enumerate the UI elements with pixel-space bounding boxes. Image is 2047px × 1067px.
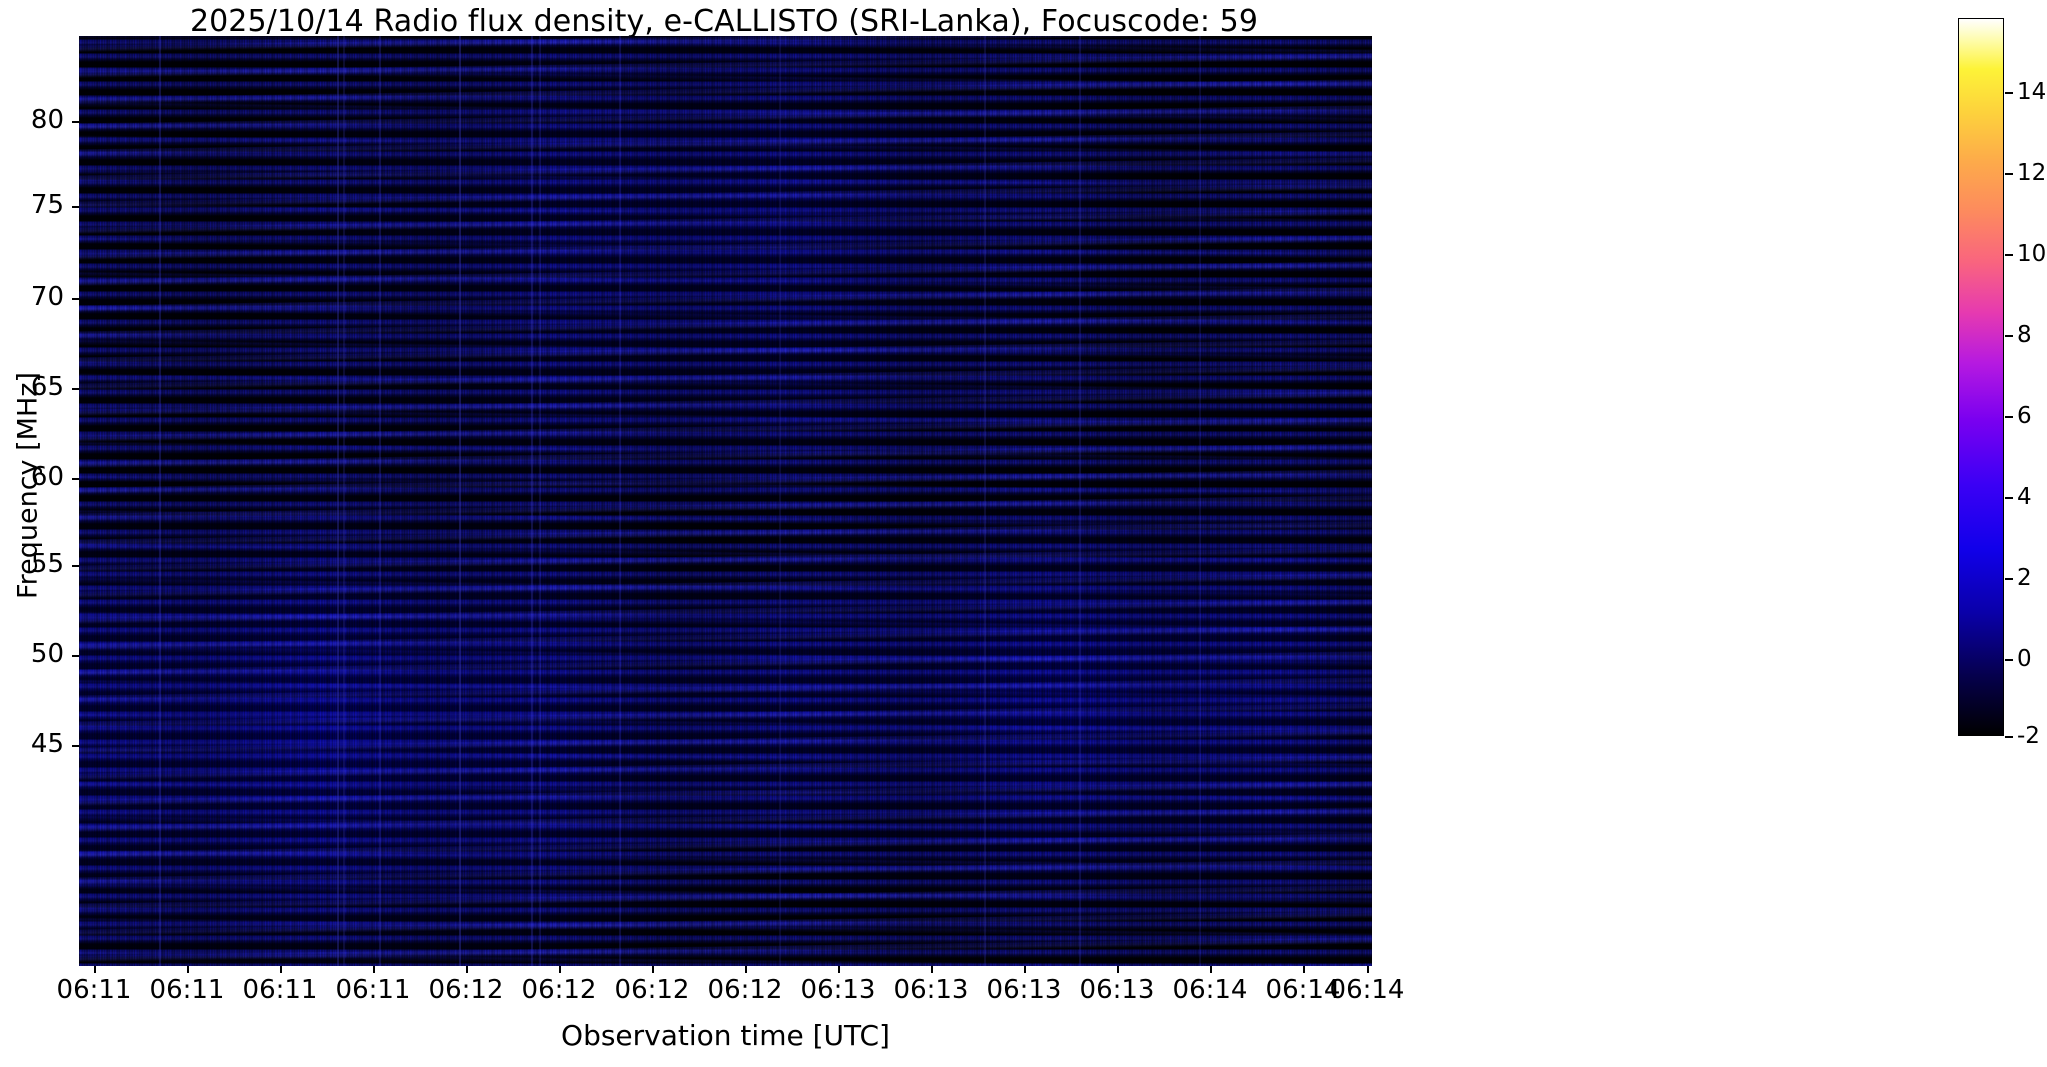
colorbar-tick-label: 6	[2017, 405, 2032, 428]
y-tick-label: 55	[2, 551, 64, 577]
y-tick-label: 70	[2, 284, 64, 310]
colorbar-tick-label: 0	[2017, 648, 2032, 671]
colorbar-tick-mark	[2005, 335, 2013, 337]
figure-canvas: 2025/10/14 Radio flux density, e-CALLIST…	[0, 0, 2047, 1067]
colorbar-tick-label: 4	[2017, 486, 2032, 509]
y-tick-mark	[72, 298, 79, 300]
x-tick-mark	[280, 966, 282, 973]
colorbar-tick-mark	[2005, 254, 2013, 256]
x-tick-mark	[838, 966, 840, 973]
colorbar-tick-label: 10	[2017, 243, 2046, 266]
x-tick-mark	[187, 966, 189, 973]
x-tick-mark	[559, 966, 561, 973]
y-tick-label: 80	[2, 107, 64, 133]
y-tick-mark	[72, 121, 79, 123]
colorbar-tick-label: 14	[2017, 81, 2046, 104]
colorbar-tick-mark	[2005, 173, 2013, 175]
colorbar-tick-mark	[2005, 92, 2013, 94]
y-tick-label: 60	[2, 464, 64, 490]
x-tick-mark	[94, 966, 96, 973]
colorbar-tick-label: 12	[2017, 162, 2046, 185]
colorbar-tick-mark	[2005, 578, 2013, 580]
x-tick-mark	[931, 966, 933, 973]
x-tick-mark	[1367, 966, 1369, 973]
spectrogram-modulation-layer	[79, 36, 1372, 966]
x-tick-mark	[466, 966, 468, 973]
x-tick-mark	[1117, 966, 1119, 973]
page-title: 2025/10/14 Radio flux density, e-CALLIST…	[0, 4, 1448, 39]
y-tick-mark	[72, 655, 79, 657]
colorbar-tick-mark	[2005, 416, 2013, 418]
colorbar-gradient	[1958, 18, 2004, 736]
y-tick-mark	[72, 565, 79, 567]
colorbar-tick-mark	[2005, 497, 2013, 499]
y-tick-mark	[72, 478, 79, 480]
y-tick-label: 50	[2, 641, 64, 667]
y-tick-label: 45	[2, 731, 64, 757]
y-tick-label: 65	[2, 374, 64, 400]
x-tick-mark	[1024, 966, 1026, 973]
x-tick-mark	[373, 966, 375, 973]
y-tick-mark	[72, 206, 79, 208]
spectrogram-image[interactable]	[79, 36, 1372, 966]
colorbar-tick-label: 8	[2017, 324, 2032, 347]
y-tick-label: 75	[2, 192, 64, 218]
colorbar-tick-mark	[2005, 736, 2013, 738]
x-axis-label: Observation time [UTC]	[79, 1019, 1372, 1052]
y-tick-mark	[72, 388, 79, 390]
y-tick-mark	[72, 745, 79, 747]
x-tick-label: 06:14	[1302, 976, 1432, 1004]
colorbar-tick-label: 2	[2017, 567, 2032, 590]
x-tick-mark	[1303, 966, 1305, 973]
x-tick-mark	[1210, 966, 1212, 973]
colorbar[interactable]: 14 12 10 8 6 4 2 0 -2	[1958, 18, 2004, 736]
colorbar-tick-label: -2	[2017, 725, 2040, 748]
x-tick-mark	[745, 966, 747, 973]
x-tick-mark	[652, 966, 654, 973]
colorbar-tick-mark	[2005, 659, 2013, 661]
